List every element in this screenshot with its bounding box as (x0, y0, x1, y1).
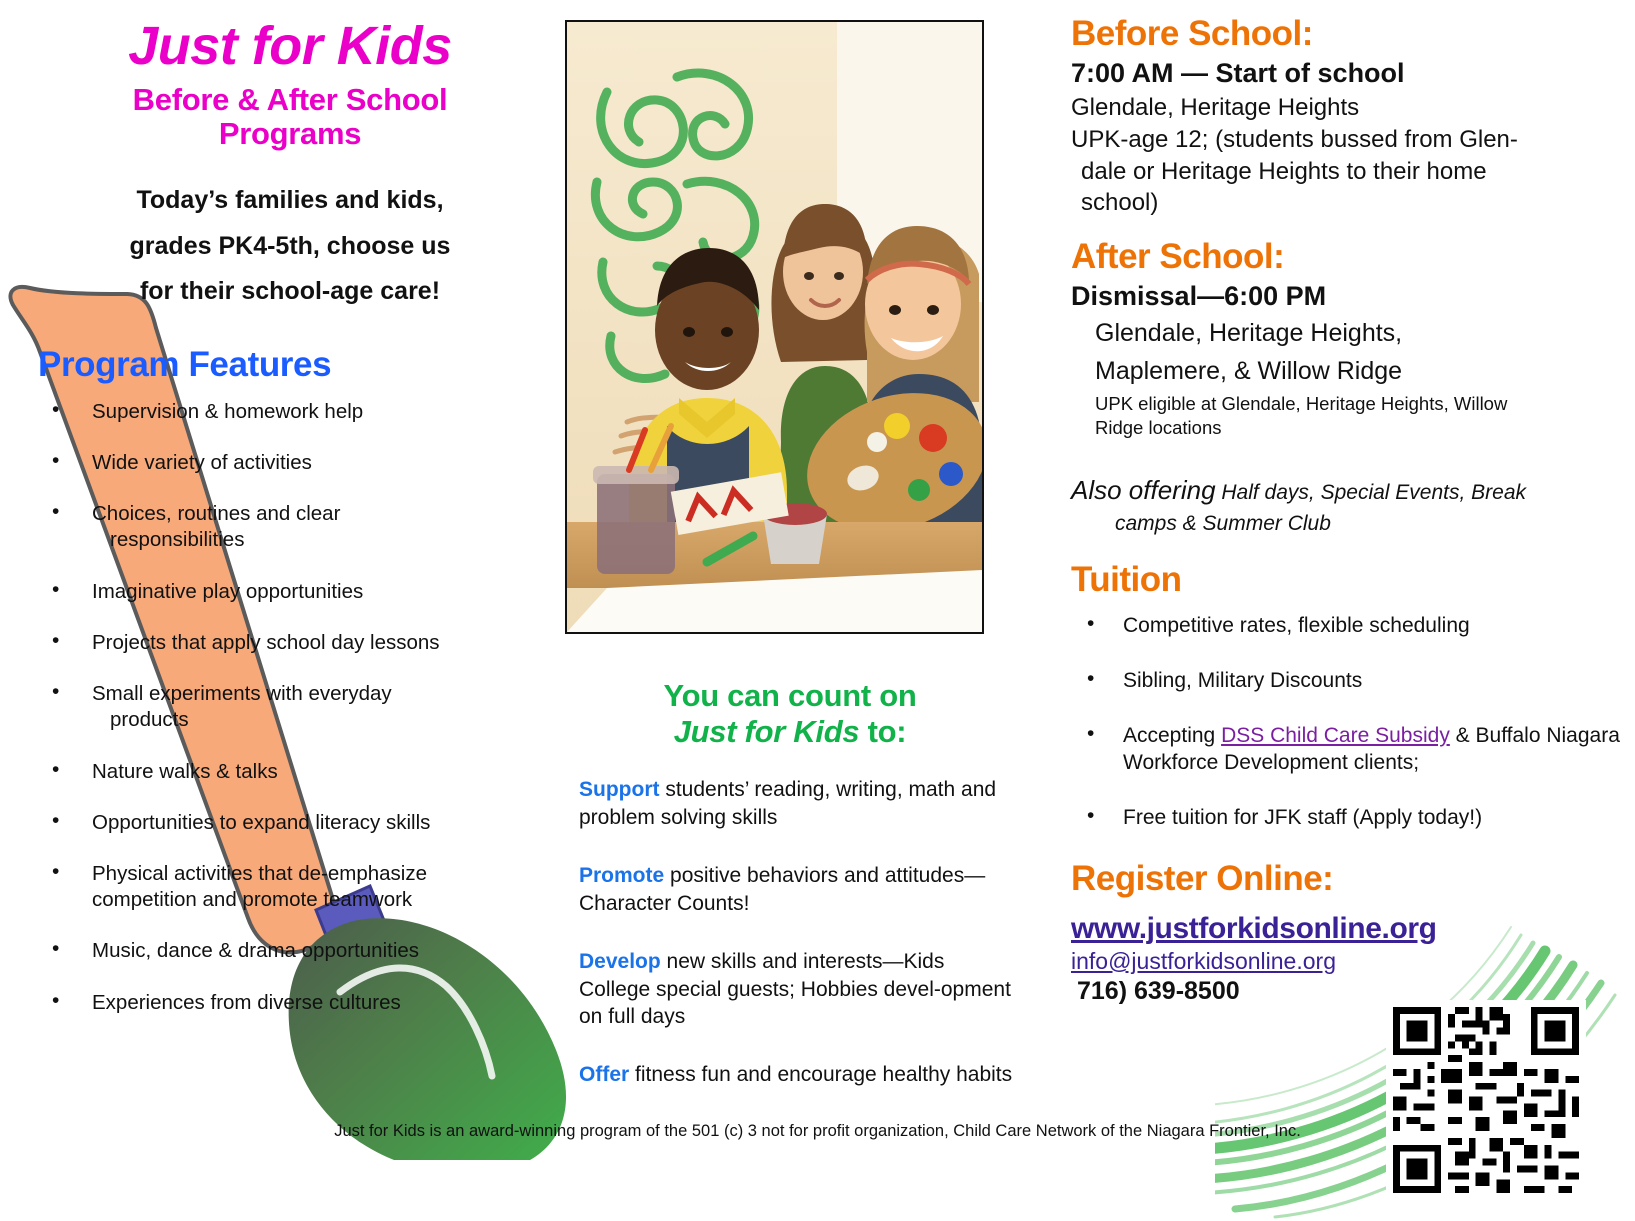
qr-code-icon[interactable] (1386, 1000, 1586, 1200)
before-school-note-line2: dale or Heritage Heights to their home (1071, 156, 1625, 188)
count-on-brand: Just for Kids (674, 714, 860, 749)
before-school-note-line3: school) (1071, 187, 1625, 219)
feature-text: Choices, routines and clear (92, 502, 340, 525)
dss-child-care-subsidy-link[interactable]: DSS Child Care Subsidy (1221, 724, 1450, 747)
count-on-keyword: Support (579, 778, 659, 801)
count-on-keyword: Offer (579, 1063, 629, 1086)
also-offering-rest2: camps & Summer Club (1071, 509, 1625, 539)
list-item: Supervision & homework help (30, 399, 550, 425)
tuition-list: Competitive rates, flexible scheduling S… (1065, 613, 1625, 831)
program-features-list: Supervision & homework help Wide variety… (30, 399, 550, 1016)
brand-subtitle: Before & After School Programs (30, 83, 550, 152)
lead-line-3: for their school-age care! (140, 277, 440, 305)
feature-text: Opportunities to expand literacy skills (92, 811, 430, 834)
brochure-page: Just for Kids Before & After School Prog… (0, 0, 1635, 1221)
feature-text: Projects that apply school day lessons (92, 631, 440, 654)
after-school-hours: Dismissal—6:00 PM (1071, 280, 1625, 314)
feature-text-cont: competition and promote teamwork (92, 887, 550, 913)
count-on-line1: You can count on (664, 678, 917, 713)
count-on-keyword: Develop (579, 950, 661, 973)
lead-line-1: Today’s families and kids, (136, 186, 443, 214)
page-title: Just for Kids (30, 18, 550, 75)
also-offering-rest1: Half days, Special Events, Break (1216, 481, 1526, 504)
brand-subtitle-line1: Before & After School (133, 82, 448, 117)
count-on-tail: to: (859, 714, 906, 749)
lead-line-2: grades PK4-5th, choose us (130, 232, 451, 260)
feature-text-cont: products (92, 707, 550, 733)
before-school-locations: Glendale, Heritage Heights (1071, 92, 1625, 124)
count-on-keyword: Promote (579, 864, 664, 887)
before-school-note-line1: UPK-age 12; (students bussed from Glen- (1071, 126, 1518, 153)
feature-text: Wide variety of activities (92, 451, 312, 474)
feature-text: Small experiments with everyday (92, 682, 392, 705)
list-item: Competitive rates, flexible scheduling (1065, 613, 1625, 640)
section-heading-count-on: You can count on Just for Kids to: (565, 678, 1015, 750)
section-heading-tuition: Tuition (1071, 560, 1625, 601)
tuition-text: Accepting (1123, 724, 1221, 747)
section-heading-register-online: Register Online: (1071, 859, 1625, 900)
tuition-text: Free tuition for JFK staff (Apply today!… (1123, 806, 1482, 829)
right-column: Before School: 7:00 AM — Start of school… (1065, 14, 1625, 1006)
list-item: Choices, routines and clear responsibili… (30, 501, 550, 553)
email-link[interactable]: info@justforkidsonline.org (1071, 948, 1625, 975)
feature-text: Music, dance & drama opportunities (92, 939, 419, 962)
list-item: Imaginative play opportunities (30, 579, 550, 605)
list-item: Projects that apply school day lessons (30, 630, 550, 656)
feature-text: Physical activities that de-emphasize (92, 862, 427, 885)
list-item: Accepting DSS Child Care Subsidy & Buffa… (1065, 723, 1625, 777)
before-school-note: UPK-age 12; (students bussed from Glen- … (1071, 124, 1625, 219)
before-school-hours: 7:00 AM — Start of school (1071, 57, 1625, 91)
count-on-item: Develop new skills and interests—Kids Co… (579, 948, 1015, 1032)
website-link[interactable]: www.justforkidsonline.org (1071, 912, 1625, 946)
section-heading-after-school: After School: (1071, 237, 1625, 278)
after-school-locations-line1: Glendale, Heritage Heights, (1095, 319, 1402, 347)
footer-disclaimer: Just for Kids is an award-winning progra… (0, 1122, 1635, 1141)
list-item: Music, dance & drama opportunities (30, 938, 550, 964)
section-heading-program-features: Program Features (38, 345, 550, 385)
list-item: Wide variety of activities (30, 450, 550, 476)
middle-column: You can count on Just for Kids to: Suppo… (565, 20, 1015, 1119)
feature-text-cont: responsibilities (92, 527, 550, 553)
count-on-list: Support students’ reading, writing, math… (565, 776, 1015, 1089)
tuition-text: Competitive rates, flexible scheduling (1123, 614, 1470, 637)
left-column: Just for Kids Before & After School Prog… (30, 18, 550, 1041)
feature-text: Experiences from diverse cultures (92, 991, 401, 1014)
feature-text: Imaginative play opportunities (92, 580, 363, 603)
after-school-upk-note: UPK eligible at Glendale, Heritage Heigh… (1095, 392, 1625, 439)
feature-text: Supervision & homework help (92, 400, 363, 423)
lead-paragraph: Today’s families and kids, grades PK4-5t… (30, 178, 550, 315)
feature-text: Nature walks & talks (92, 760, 278, 783)
list-item: Experiences from diverse cultures (30, 990, 550, 1016)
list-item: Sibling, Military Discounts (1065, 668, 1625, 695)
brand-subtitle-line2: Programs (219, 116, 361, 151)
tuition-text: Sibling, Military Discounts (1123, 669, 1362, 692)
also-offering-lead: Also offering (1071, 475, 1216, 505)
count-on-item: Promote positive behaviors and attitudes… (579, 862, 1015, 918)
after-school-locations-line2: Maplemere, & Willow Ridge (1095, 357, 1402, 385)
list-item: Nature walks & talks (30, 759, 550, 785)
also-offering: Also offering Half days, Special Events,… (1071, 472, 1625, 539)
list-item: Physical activities that de-emphasize co… (30, 861, 550, 913)
upk-note-line1: UPK eligible at Glendale, Heritage Heigh… (1095, 393, 1507, 414)
list-item: Small experiments with everyday products (30, 681, 550, 733)
after-school-locations: Glendale, Heritage Heights, Maplemere, &… (1095, 315, 1625, 390)
count-on-text: fitness fun and encourage healthy habits (629, 1063, 1012, 1086)
children-art-class-photo (565, 20, 984, 634)
upk-note-line2: Ridge locations (1095, 417, 1222, 438)
list-item: Opportunities to expand literacy skills (30, 810, 550, 836)
section-heading-before-school: Before School: (1071, 14, 1625, 55)
list-item: Free tuition for JFK staff (Apply today!… (1065, 805, 1625, 832)
count-on-item: Offer fitness fun and encourage healthy … (579, 1061, 1015, 1089)
count-on-item: Support students’ reading, writing, math… (579, 776, 1015, 832)
photo-illustration (567, 22, 982, 632)
